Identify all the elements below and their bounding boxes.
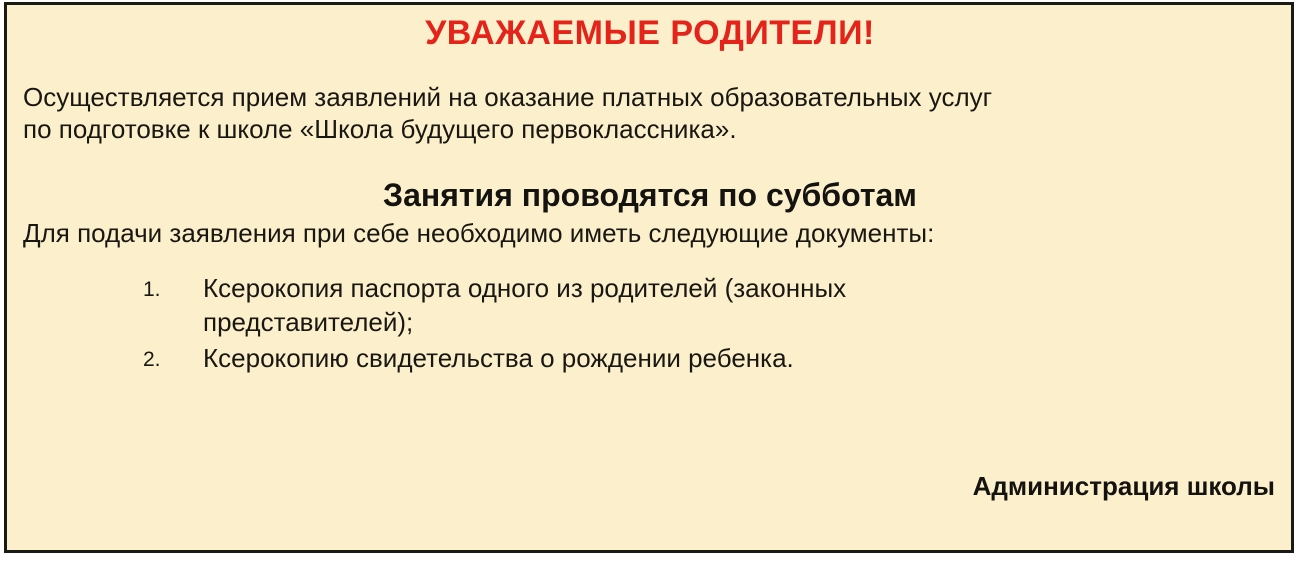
signature-text: Администрация школы xyxy=(973,470,1275,502)
paragraph-spacer xyxy=(23,145,1277,175)
documents-list: 1. Ксерокопия паспорта одного из родител… xyxy=(23,271,1277,375)
poster-content: УВАЖАЕМЫЕ РОДИТЕЛИ! Осуществляется прием… xyxy=(7,11,1291,553)
announcement-poster: УВАЖАЕМЫЕ РОДИТЕЛИ! Осуществляется прием… xyxy=(4,2,1294,553)
list-item: 2. Ксерокопию свидетельства о рождении р… xyxy=(143,341,963,375)
list-item-text: Ксерокопию свидетельства о рождении ребе… xyxy=(203,343,794,373)
poster-title: УВАЖАЕМЫЕ РОДИТЕЛИ! xyxy=(23,11,1277,55)
list-item: 1. Ксерокопия паспорта одного из родител… xyxy=(143,271,963,339)
list-item-number: 2. xyxy=(143,343,185,377)
schedule-subtitle: Занятия проводятся по субботам xyxy=(23,175,1277,215)
documents-lead-text: Для подачи заявления при себе необходимо… xyxy=(23,217,1277,249)
list-item-number: 1. xyxy=(143,273,185,307)
intro-line-1: Осуществляется прием заявлений на оказан… xyxy=(23,81,1277,113)
list-item-text: Ксерокопия паспорта одного из родителей … xyxy=(203,273,846,337)
intro-line-2: по подготовке к школе «Школа будущего пе… xyxy=(23,113,1277,145)
